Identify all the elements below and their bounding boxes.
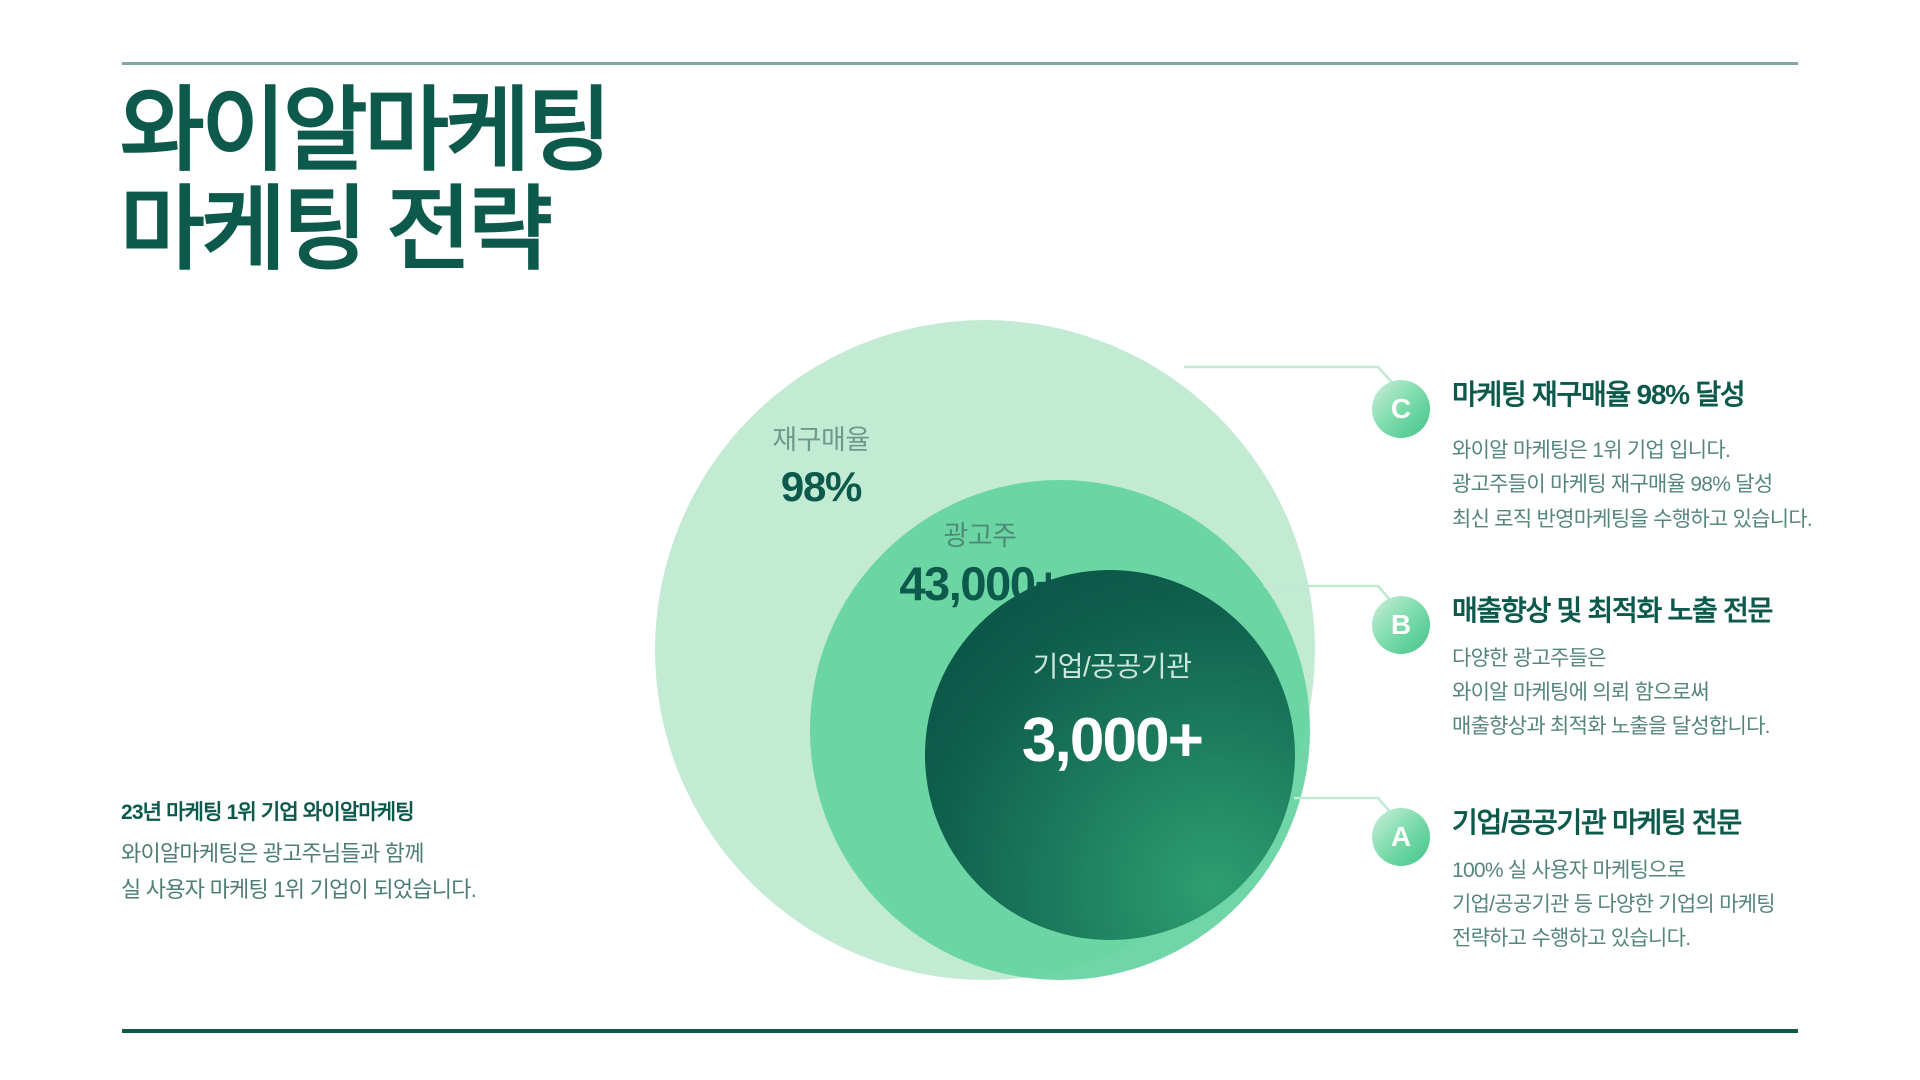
footer-note-body: 와이알마케팅은 광고주님들과 함께 실 사용자 마케팅 1위 기업이 되었습니다…: [121, 836, 641, 907]
feature-item-c[interactable]: C 마케팅 재구매율 98% 달성 와이알 마케팅은 1위 기업 입니다. 광고…: [1372, 378, 1812, 538]
top-divider: [122, 62, 1798, 65]
feature-item-c-text: 마케팅 재구매율 98% 달성 와이알 마케팅은 1위 기업 입니다. 광고주들…: [1452, 378, 1812, 538]
feature-item-a-body: 100% 실 사용자 마케팅으로 기업/공공기관 등 다양한 기업의 마케팅 전…: [1452, 854, 1775, 956]
venn-inner-caption: 기업/공공기관: [937, 650, 1287, 684]
feature-item-b-title: 매출향상 및 최적화 노출 전문: [1452, 594, 1772, 628]
page-title: 와이알마케팅 마케팅 전략: [120, 82, 609, 281]
badge-b-icon: B: [1372, 596, 1430, 654]
feature-item-a-title: 기업/공공기관 마케팅 전문: [1452, 806, 1775, 840]
venn-label-inner: 기업/공공기관 3,000+: [937, 650, 1287, 777]
venn-middle-caption: 광고주: [855, 520, 1105, 552]
venn-label-outer: 재구매율 98%: [711, 424, 931, 512]
feature-item-a-text: 기업/공공기관 마케팅 전문 100% 실 사용자 마케팅으로 기업/공공기관 …: [1452, 806, 1775, 956]
feature-item-b-body: 다양한 광고주들은 와이알 마케팅에 의뢰 함으로써 매출향상과 최적화 노출을…: [1452, 642, 1772, 744]
feature-item-b[interactable]: B 매출향상 및 최적화 노출 전문 다양한 광고주들은 와이알 마케팅에 의뢰…: [1372, 594, 1772, 744]
feature-item-b-text: 매출향상 및 최적화 노출 전문 다양한 광고주들은 와이알 마케팅에 의뢰 함…: [1452, 594, 1772, 744]
feature-item-c-title: 마케팅 재구매율 98% 달성: [1452, 378, 1812, 412]
venn-outer-caption: 재구매율: [711, 424, 931, 456]
badge-c-icon: C: [1372, 380, 1430, 438]
venn-inner-value: 3,000+: [937, 704, 1287, 777]
footer-note: 23년 마케팅 1위 기업 와이알마케팅 와이알마케팅은 광고주님들과 함께 실…: [121, 800, 641, 908]
badge-a-icon: A: [1372, 808, 1430, 866]
slide-canvas: 와이알마케팅 마케팅 전략 재구매율 98% 광고주 43,000+ 기업/공공…: [0, 0, 1920, 1080]
venn-middle-value: 43,000+: [855, 556, 1105, 611]
venn-label-middle: 광고주 43,000+: [855, 520, 1105, 612]
bottom-divider: [122, 1029, 1798, 1033]
venn-diagram: 재구매율 98% 광고주 43,000+ 기업/공공기관 3,000+: [655, 320, 1355, 1020]
venn-outer-value: 98%: [711, 462, 931, 512]
feature-item-a[interactable]: A 기업/공공기관 마케팅 전문 100% 실 사용자 마케팅으로 기업/공공기…: [1372, 806, 1775, 956]
feature-item-c-body: 와이알 마케팅은 1위 기업 입니다. 광고주들이 마케팅 재구매율 98% 달…: [1452, 434, 1812, 539]
footer-note-title: 23년 마케팅 1위 기업 와이알마케팅: [121, 800, 641, 826]
